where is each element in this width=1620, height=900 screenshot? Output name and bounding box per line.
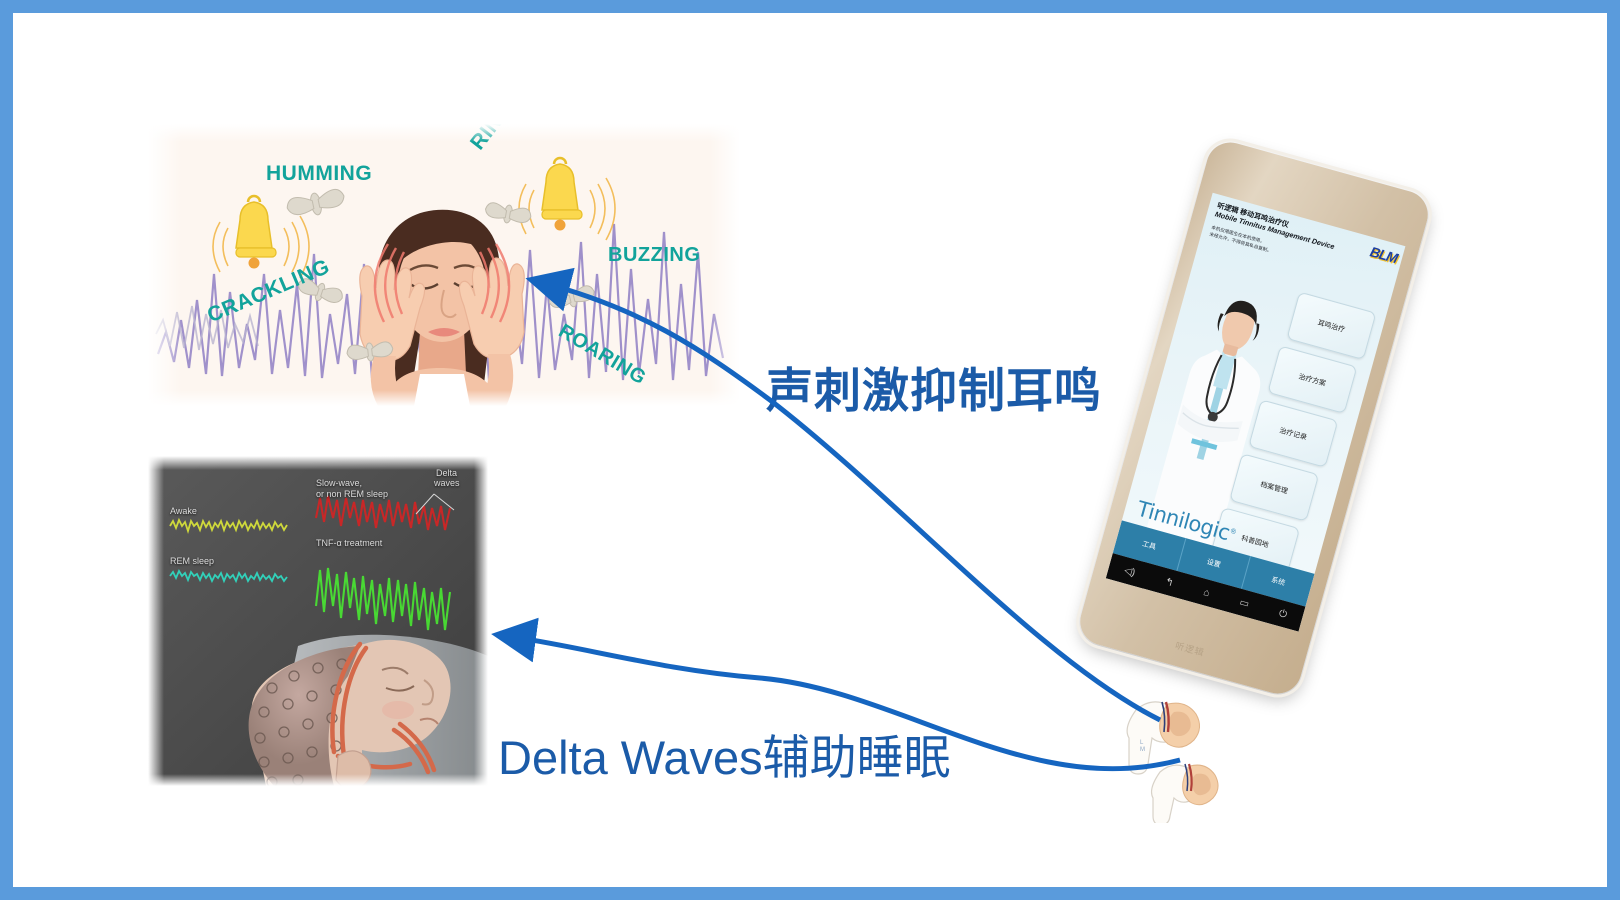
menu-button-label: 科普园地 — [1240, 533, 1270, 550]
eeg-illustration: Awake REM sleep Slow-wave, or non REM sl… — [148, 456, 488, 786]
eeg-label-slow-wave-1: Slow-wave, — [316, 478, 362, 488]
mobile-tinnitus-management-device[interactable]: 听逻辑 移动耳鸣治疗仪 Mobile Tinnitus Management D… — [1075, 137, 1434, 699]
menu-button-label: 档案管理 — [1259, 479, 1289, 496]
power-icon[interactable]: ⏻ — [1278, 608, 1289, 621]
tinnitus-word-humming: HUMMING — [266, 162, 372, 186]
frame-border-top — [0, 0, 1620, 13]
blm-logo: BLM — [1368, 243, 1399, 266]
tab-label: 系统 — [1270, 575, 1286, 588]
menu-button-label: 治疗方案 — [1298, 371, 1328, 388]
eeg-label-awake: Awake — [170, 506, 197, 516]
menu-button-label: 耳鸣治疗 — [1317, 317, 1347, 334]
eeg-label-rem-sleep: REM sleep — [170, 556, 214, 566]
frame-border-bottom — [0, 887, 1620, 900]
caption-sound-stimulation: 声刺激抑制耳鸣 — [766, 352, 1102, 421]
back-icon[interactable]: ↰ — [1164, 576, 1175, 589]
frame-border-right — [1607, 0, 1620, 900]
svg-text:M: M — [1140, 747, 1145, 753]
eeg-label-delta-2: waves — [434, 478, 460, 488]
eeg-label-slow-wave-2: or non REM sleep — [316, 489, 388, 499]
panel-fade-bottom — [148, 390, 740, 406]
panel-fade-right — [710, 124, 740, 406]
panel-fade-top — [148, 124, 740, 142]
recents-icon[interactable]: ▭ — [1238, 597, 1250, 610]
menu-button-label: 治疗记录 — [1278, 425, 1308, 442]
eeg-label-tnf: TNF-α treatment — [316, 538, 382, 548]
tinnitus-illustration: HUMMING RINGING BUZZING CRACKLING ROARIN… — [148, 124, 740, 406]
tab-label: 工具 — [1141, 539, 1157, 552]
panel-fade-left — [148, 124, 182, 406]
wireless-earbuds: L M — [1122, 688, 1252, 823]
tinnitus-word-buzzing: BUZZING — [608, 244, 700, 267]
frame-border-left — [0, 0, 13, 900]
eeg-label-delta-1: Delta — [436, 468, 457, 478]
volume-icon[interactable]: ◁) — [1123, 565, 1137, 579]
device-illustration: 听逻辑 移动耳鸣治疗仪 Mobile Tinnitus Management D… — [1112, 150, 1482, 730]
slide-canvas: HUMMING RINGING BUZZING CRACKLING ROARIN… — [0, 0, 1620, 900]
home-icon[interactable]: ⌂ — [1202, 587, 1211, 599]
caption-delta-waves: Delta Waves辅助睡眠 — [498, 719, 951, 788]
tab-label: 设置 — [1206, 557, 1222, 570]
